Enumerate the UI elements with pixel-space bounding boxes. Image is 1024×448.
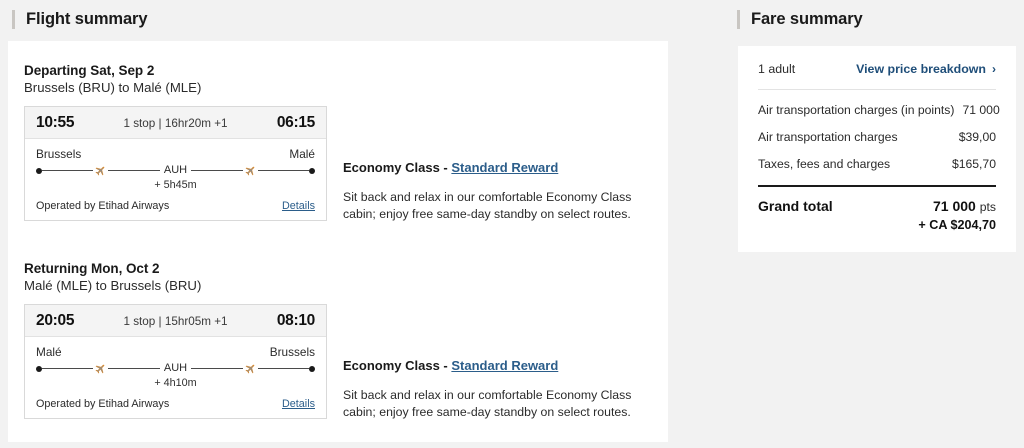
fare-line-label: Taxes, fees and charges — [758, 157, 890, 171]
destination-city: Brussels — [270, 345, 315, 359]
route-segment — [42, 368, 93, 369]
leg-title: Returning Mon, Oct 2 — [24, 261, 327, 276]
cabin-class-label: Economy Class - — [343, 358, 451, 373]
route-segment — [42, 170, 93, 171]
route-segment — [108, 368, 159, 369]
fare-summary-card: 1 adult View price breakdown › Air trans… — [738, 46, 1016, 252]
standard-reward-link[interactable]: Standard Reward — [451, 358, 558, 373]
cabin-description: Sit back and relax in our comfortable Ec… — [343, 387, 633, 420]
destination-dot — [309, 366, 315, 372]
fare-top-row: 1 adult View price breakdown › — [758, 62, 996, 90]
leg-title: Departing Sat, Sep 2 — [24, 63, 327, 78]
layover-airport-code: AUH — [160, 363, 191, 374]
flight-summary-title: Flight summary — [26, 10, 147, 29]
cabin-info-returning: Economy Class - Standard Reward Sit back… — [343, 358, 643, 420]
fare-line-item: Air transportation charges (in points) 7… — [758, 90, 996, 117]
airplane-icon — [244, 164, 257, 177]
flight-summary-panel: Departing Sat, Sep 2 Brussels (BRU) to M… — [8, 41, 668, 442]
itinerary-times-band: 20:05 1 stop | 15hr05m +1 08:10 — [25, 305, 326, 337]
fare-line-item: Air transportation charges $39,00 — [758, 117, 996, 144]
flight-leg-returning: Returning Mon, Oct 2 Malé (MLE) to Bruss… — [24, 261, 327, 419]
itinerary-body: Malé Brussels AUH — [25, 337, 326, 389]
points-unit-label: pts — [980, 200, 996, 214]
route-timeline: AUH — [36, 164, 315, 177]
stops-duration: 1 stop | 15hr05m +1 — [123, 315, 227, 328]
airplane-icon — [94, 362, 107, 375]
grand-total-label: Grand total — [758, 198, 833, 214]
itinerary-card[interactable]: 10:55 1 stop | 16hr20m +1 06:15 Brussels… — [24, 106, 327, 221]
arrive-time: 08:10 — [277, 312, 315, 330]
fare-line-item: Taxes, fees and charges $165,70 — [758, 144, 996, 171]
cabin-info-departing: Economy Class - Standard Reward Sit back… — [343, 160, 643, 222]
route-segment — [191, 170, 242, 171]
layover-airport-code: AUH — [160, 165, 191, 176]
itinerary-body: Brussels Malé AUH — [25, 139, 326, 191]
depart-time: 10:55 — [36, 114, 74, 132]
operated-by-label: Operated by Etihad Airways — [36, 398, 169, 410]
flight-leg-departing: Departing Sat, Sep 2 Brussels (BRU) to M… — [24, 63, 327, 221]
itinerary-times-band: 10:55 1 stop | 16hr20m +1 06:15 — [25, 107, 326, 139]
view-price-breakdown-label: View price breakdown — [856, 62, 986, 76]
grand-total-row: Grand total 71 000 pts + CA $204,70 — [758, 187, 996, 234]
city-row: Brussels Malé — [36, 147, 315, 161]
route-timeline: AUH — [36, 362, 315, 375]
details-link[interactable]: Details — [282, 200, 315, 212]
chevron-right-icon: › — [992, 63, 996, 75]
origin-city: Brussels — [36, 147, 81, 161]
route-segment — [108, 170, 159, 171]
cabin-title: Economy Class - Standard Reward — [343, 358, 643, 373]
destination-dot — [309, 168, 315, 174]
heading-accent-bar — [12, 10, 15, 29]
city-row: Malé Brussels — [36, 345, 315, 359]
route-segment — [191, 368, 242, 369]
heading-accent-bar — [737, 10, 740, 29]
leg-route: Malé (MLE) to Brussels (BRU) — [24, 278, 327, 293]
stops-duration: 1 stop | 16hr20m +1 — [123, 117, 227, 130]
route-segment — [258, 368, 309, 369]
grand-total-points-value: 71 000 — [933, 198, 976, 214]
leg-route: Brussels (BRU) to Malé (MLE) — [24, 80, 327, 95]
grand-total-cash: + CA $204,70 — [918, 218, 996, 232]
layover-duration: + 5h45m — [36, 179, 315, 191]
booking-summary-page: Flight summary Departing Sat, Sep 2 Brus… — [0, 0, 1024, 448]
passenger-count: 1 adult — [758, 62, 795, 76]
destination-city: Malé — [289, 147, 315, 161]
grand-total-values: 71 000 pts + CA $204,70 — [918, 198, 996, 234]
operated-row: Operated by Etihad Airways Details — [25, 389, 326, 418]
depart-time: 20:05 — [36, 312, 74, 330]
grand-total-points: 71 000 pts — [933, 198, 996, 214]
operated-row: Operated by Etihad Airways Details — [25, 191, 326, 220]
itinerary-card[interactable]: 20:05 1 stop | 15hr05m +1 08:10 Malé Bru… — [24, 304, 327, 419]
cabin-title: Economy Class - Standard Reward — [343, 160, 643, 175]
layover-duration: + 4h10m — [36, 377, 315, 389]
arrive-time: 06:15 — [277, 114, 315, 132]
fare-line-label: Air transportation charges — [758, 130, 898, 144]
fare-line-value: 71 000 — [962, 103, 999, 117]
details-link[interactable]: Details — [282, 398, 315, 410]
fare-summary-title: Fare summary — [751, 10, 863, 29]
standard-reward-link[interactable]: Standard Reward — [451, 160, 558, 175]
flight-summary-heading: Flight summary — [12, 10, 147, 29]
origin-city: Malé — [36, 345, 62, 359]
cabin-class-label: Economy Class - — [343, 160, 451, 175]
cabin-description: Sit back and relax in our comfortable Ec… — [343, 189, 633, 222]
fare-line-value: $165,70 — [952, 157, 996, 171]
operated-by-label: Operated by Etihad Airways — [36, 200, 169, 212]
fare-line-label: Air transportation charges (in points) — [758, 103, 954, 117]
route-segment — [258, 170, 309, 171]
airplane-icon — [94, 164, 107, 177]
airplane-icon — [244, 362, 257, 375]
fare-line-value: $39,00 — [959, 130, 996, 144]
view-price-breakdown-button[interactable]: View price breakdown › — [856, 62, 996, 76]
fare-summary-heading: Fare summary — [737, 10, 863, 29]
